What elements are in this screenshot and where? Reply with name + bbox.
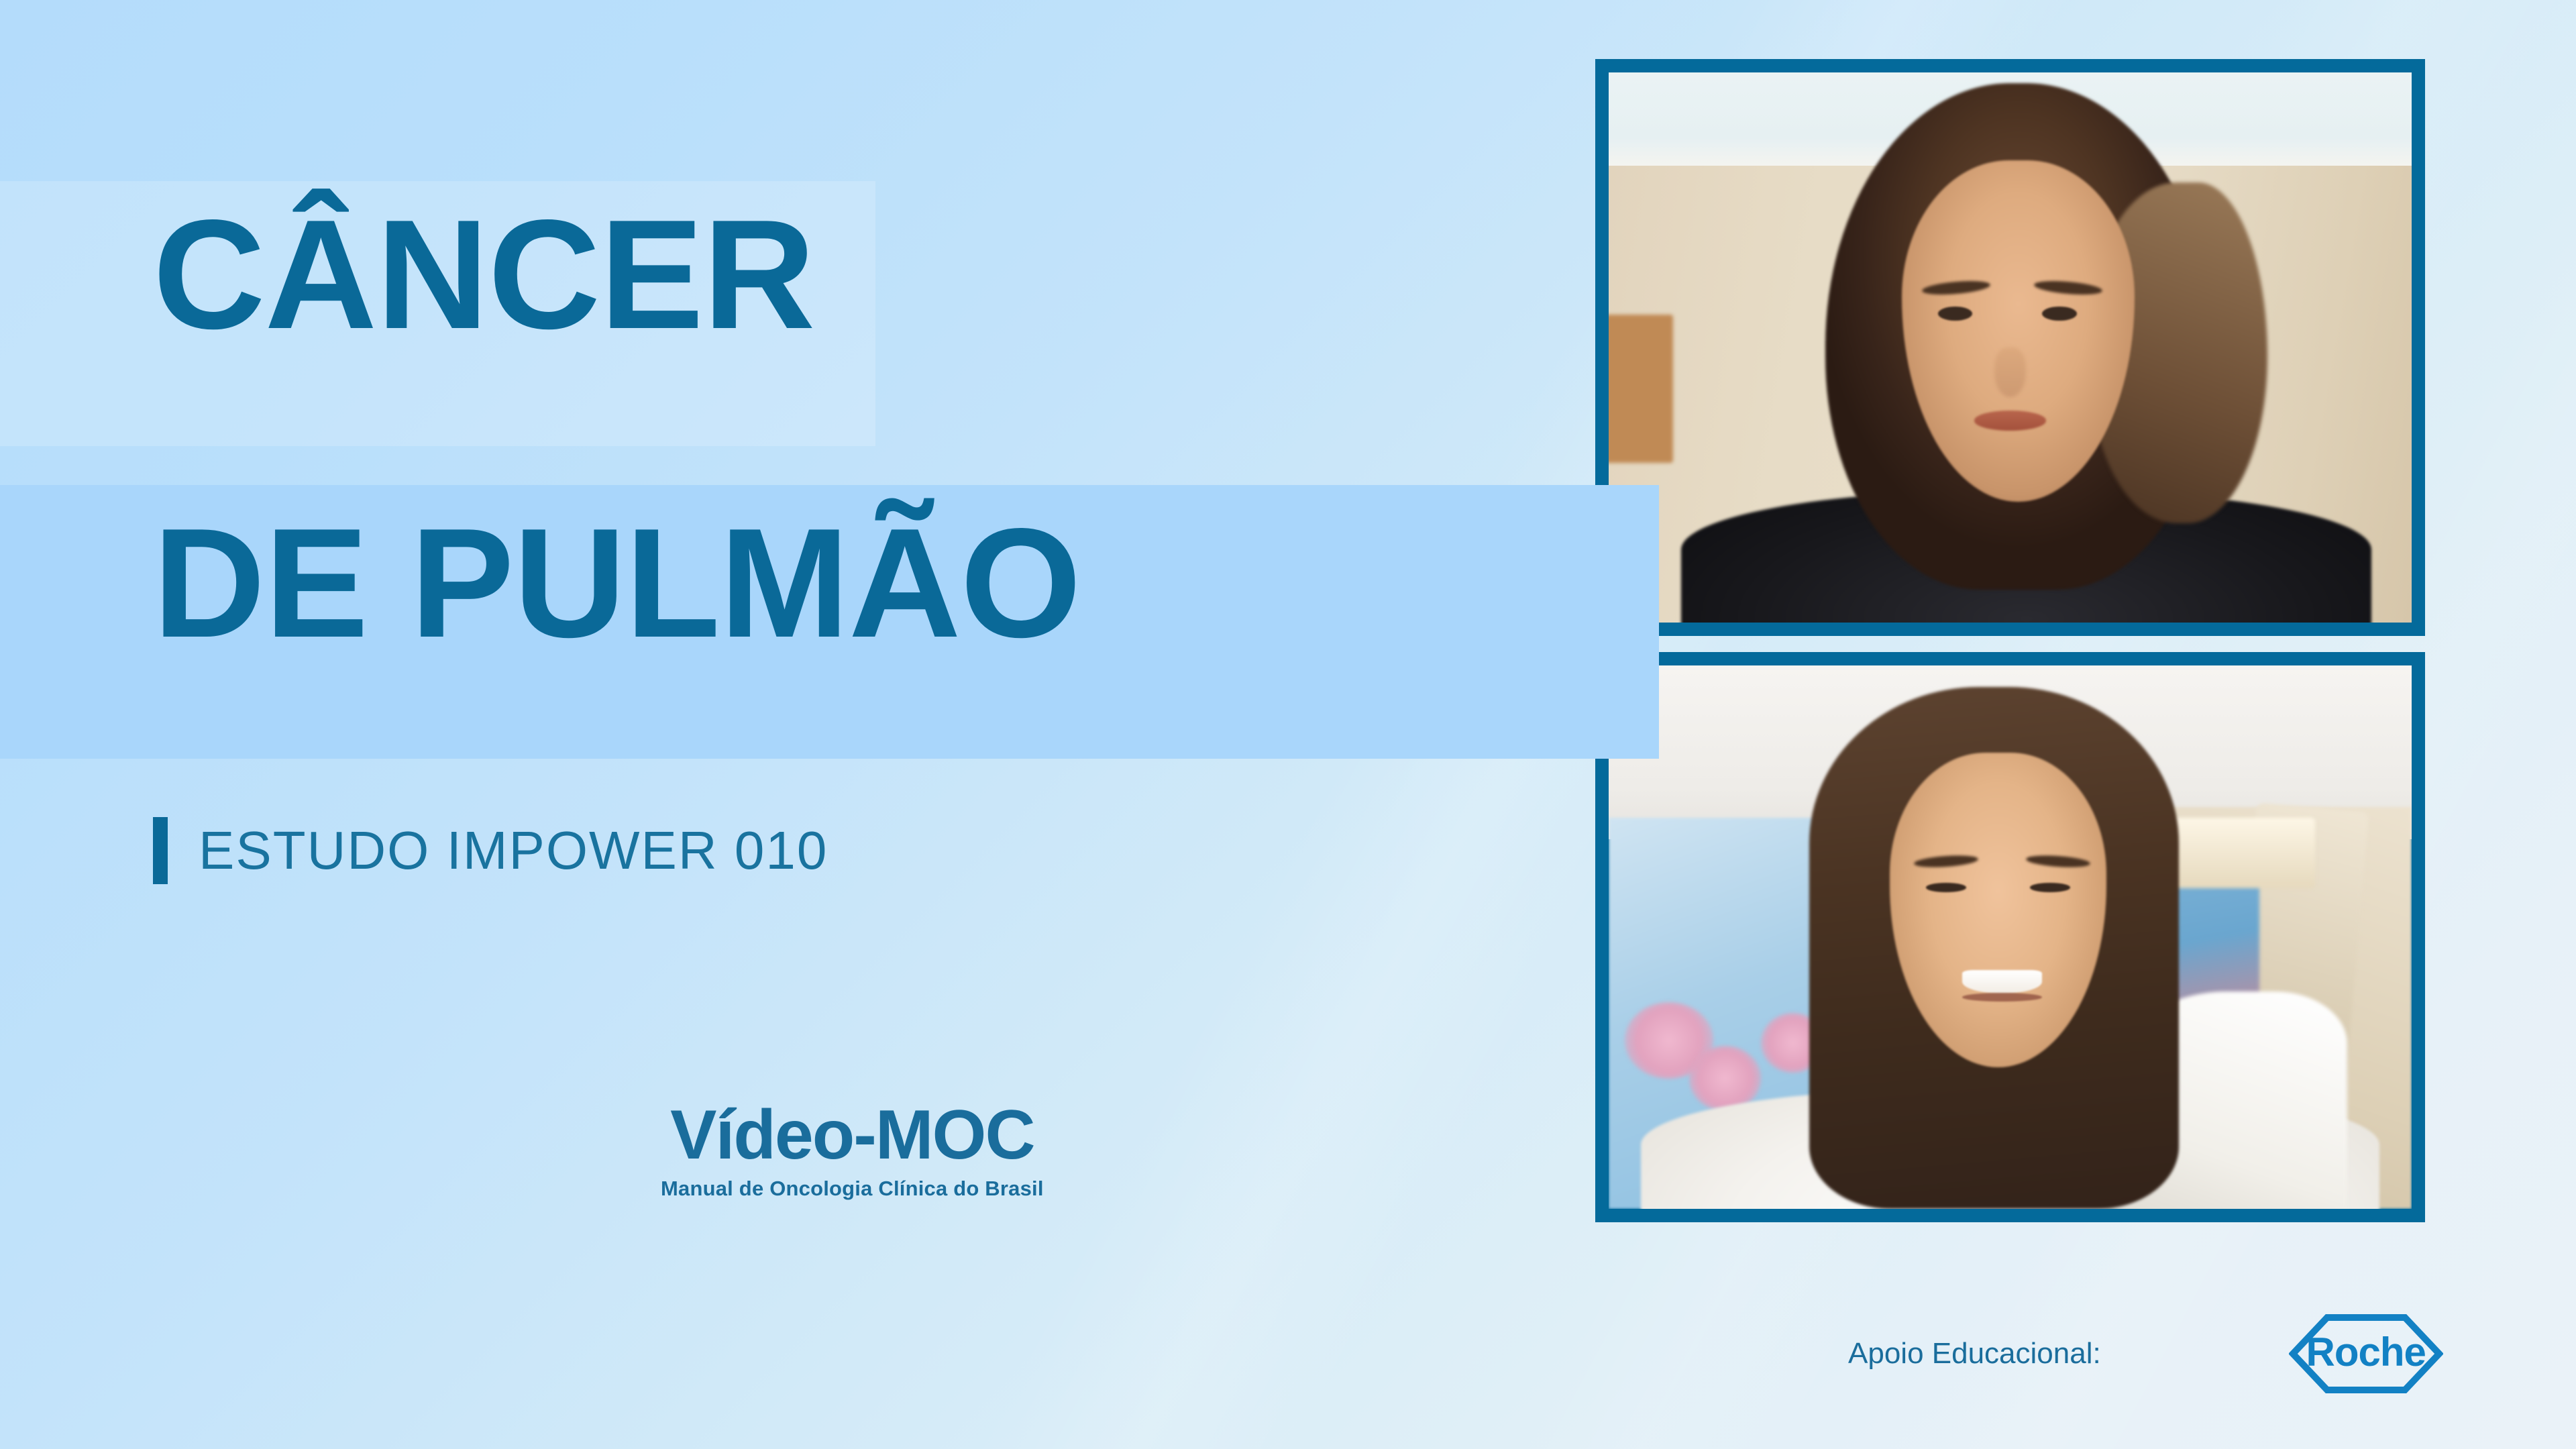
video-frame-bottom (1609, 665, 2412, 1209)
video-tile-bottom[interactable] (1595, 652, 2425, 1222)
bottom-video-lamp (2163, 818, 2315, 888)
logo-wordmark: Vídeo-MOC (661, 1100, 1044, 1170)
top-video-nose (1994, 347, 2027, 397)
top-video-eye-left (1938, 307, 1972, 321)
subtitle-accent-bar (153, 817, 168, 884)
video-frame-top (1609, 72, 2412, 623)
page-title-line-2: DE PULMÃO (153, 510, 1081, 657)
bottom-video-eye-left (1926, 883, 1966, 892)
presentation-slide: CÂNCER DE PULMÃO ESTUDO IMPOWER 010 Víde… (0, 0, 2576, 1449)
sponsor-row: Apoio Educacional: Roche (1848, 1313, 2443, 1394)
roche-wordmark: Roche (2306, 1332, 2426, 1373)
subtitle-text: ESTUDO IMPOWER 010 (199, 820, 828, 881)
page-title-line-1: CÂNCER (153, 201, 814, 349)
top-video-wall-object (1609, 315, 1673, 463)
roche-logo: Roche (2289, 1313, 2443, 1394)
bottom-video-eye-right (2030, 883, 2070, 892)
bottom-video-lip-line (1962, 993, 2043, 1002)
logo-tagline: Manual de Oncologia Clínica do Brasil (661, 1177, 1044, 1201)
video-tile-top[interactable] (1595, 59, 2425, 636)
video-moc-logo: Vídeo-MOC Manual de Oncologia Clínica do… (661, 1100, 1044, 1201)
sponsor-label: Apoio Educacional: (1848, 1337, 2101, 1371)
subtitle: ESTUDO IMPOWER 010 (153, 817, 828, 884)
top-video-eye-right (2042, 307, 2076, 321)
top-video-lips (1974, 411, 2047, 431)
